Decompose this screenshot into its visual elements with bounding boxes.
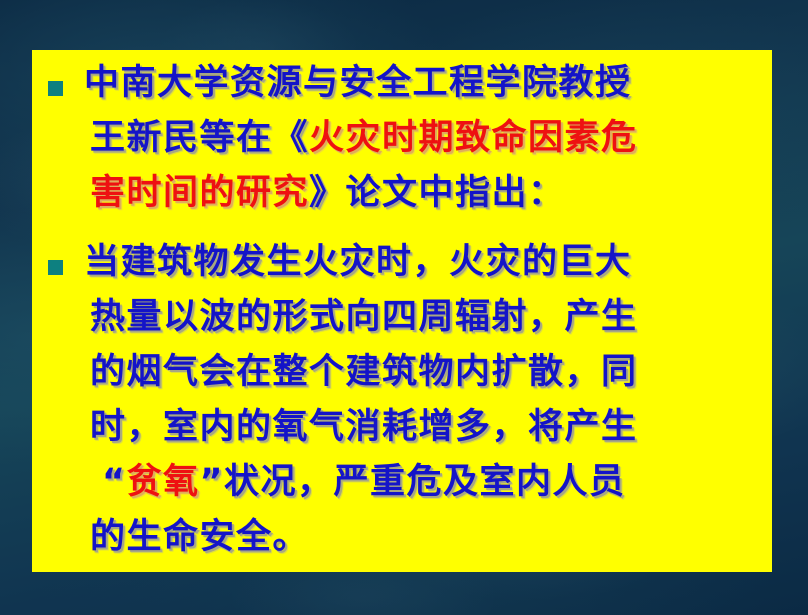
text-segment: “ <box>102 462 127 502</box>
square-bullet-icon <box>48 81 63 96</box>
text-line: 的生命安全。 <box>84 510 764 565</box>
square-bullet-icon <box>48 260 63 275</box>
text-segment: 时，室内的氧气消耗增多，将产生 <box>90 407 638 447</box>
text-segment-highlight: 贫氧 <box>127 462 200 502</box>
text-segment: 的生命安全。 <box>90 517 309 557</box>
text-line: 的烟气会在整个建筑物内扩散，同 <box>84 345 764 400</box>
text-line: 热量以波的形式向四周辐射，产生 <box>84 290 764 345</box>
text-segment: 当建筑物发生火灾时，火灾的巨大 <box>84 242 632 282</box>
text-line: 当建筑物发生火灾时，火灾的巨大 <box>84 235 764 290</box>
presentation-slide: 中南大学资源与安全工程学院教授 王新民等在《火灾时期致命因素危 害时间的研究》论… <box>0 0 808 615</box>
bullet-block: 当建筑物发生火灾时，火灾的巨大 热量以波的形式向四周辐射，产生 的烟气会在整个建… <box>40 235 764 565</box>
slide-content-panel: 中南大学资源与安全工程学院教授 王新民等在《火灾时期致命因素危 害时间的研究》论… <box>32 50 772 572</box>
text-segment: 的烟气会在整个建筑物内扩散，同 <box>90 352 638 392</box>
text-segment: 王新民等在《 <box>90 118 309 158</box>
text-segment: 中南大学资源与安全工程学院教授 <box>84 63 632 103</box>
text-line: 中南大学资源与安全工程学院教授 <box>84 56 764 111</box>
text-line: 王新民等在《火灾时期致命因素危 <box>84 111 764 166</box>
text-line: “贫氧”状况，严重危及室内人员 <box>84 455 764 510</box>
text-segment: 热量以波的形式向四周辐射，产生 <box>90 297 638 337</box>
text-line: 时，室内的氧气消耗增多，将产生 <box>84 400 764 455</box>
text-segment: 》论文中指出： <box>309 173 565 213</box>
bullet-block: 中南大学资源与安全工程学院教授 王新民等在《火灾时期致命因素危 害时间的研究》论… <box>40 56 764 221</box>
text-segment-highlight: 害时间的研究 <box>90 173 309 213</box>
text-segment-highlight: 火灾时期致命因素危 <box>309 118 638 158</box>
text-segment: ”状况，严重危及室内人员 <box>200 462 626 502</box>
text-line: 害时间的研究》论文中指出： <box>84 166 764 221</box>
